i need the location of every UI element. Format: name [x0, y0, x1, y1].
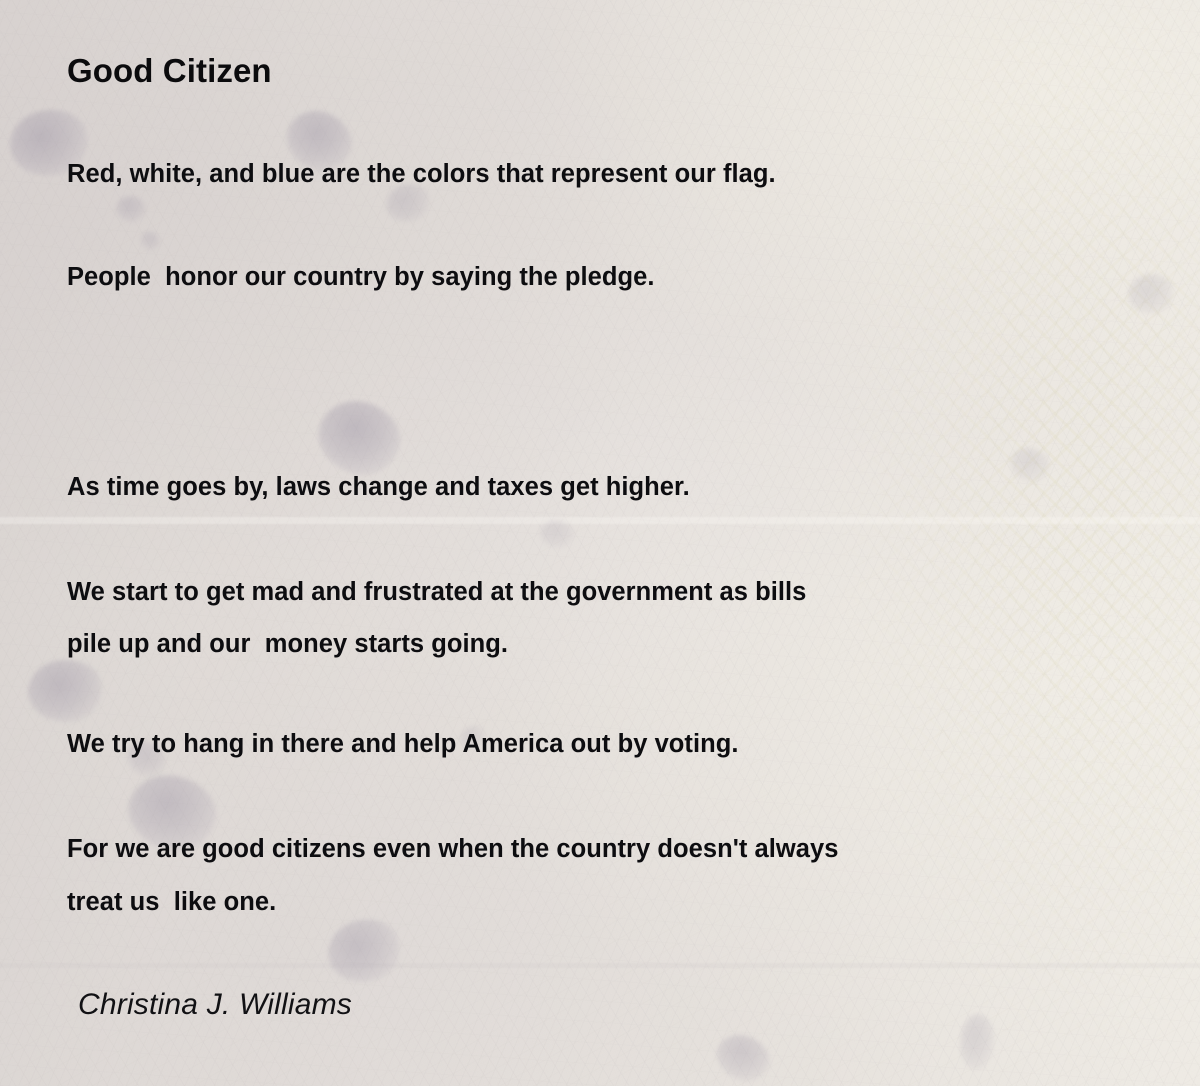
poem-line: People honor our country by saying the p… [67, 263, 655, 292]
poem-page: Good Citizen Red, white, and blue are th… [0, 0, 1200, 1086]
poem-line: pile up and our money starts going. [67, 630, 508, 659]
author-signature: Christina J. Williams [78, 988, 352, 1022]
page-title: Good Citizen [67, 52, 272, 90]
poem-line: treat us like one. [67, 888, 276, 917]
poem-text-layer: Good Citizen Red, white, and blue are th… [0, 0, 1200, 1086]
poem-line: Red, white, and blue are the colors that… [67, 160, 776, 189]
poem-line: As time goes by, laws change and taxes g… [67, 473, 690, 502]
poem-line: We try to hang in there and help America… [67, 730, 739, 759]
poem-line: We start to get mad and frustrated at th… [67, 578, 806, 607]
poem-line: For we are good citizens even when the c… [67, 835, 838, 864]
